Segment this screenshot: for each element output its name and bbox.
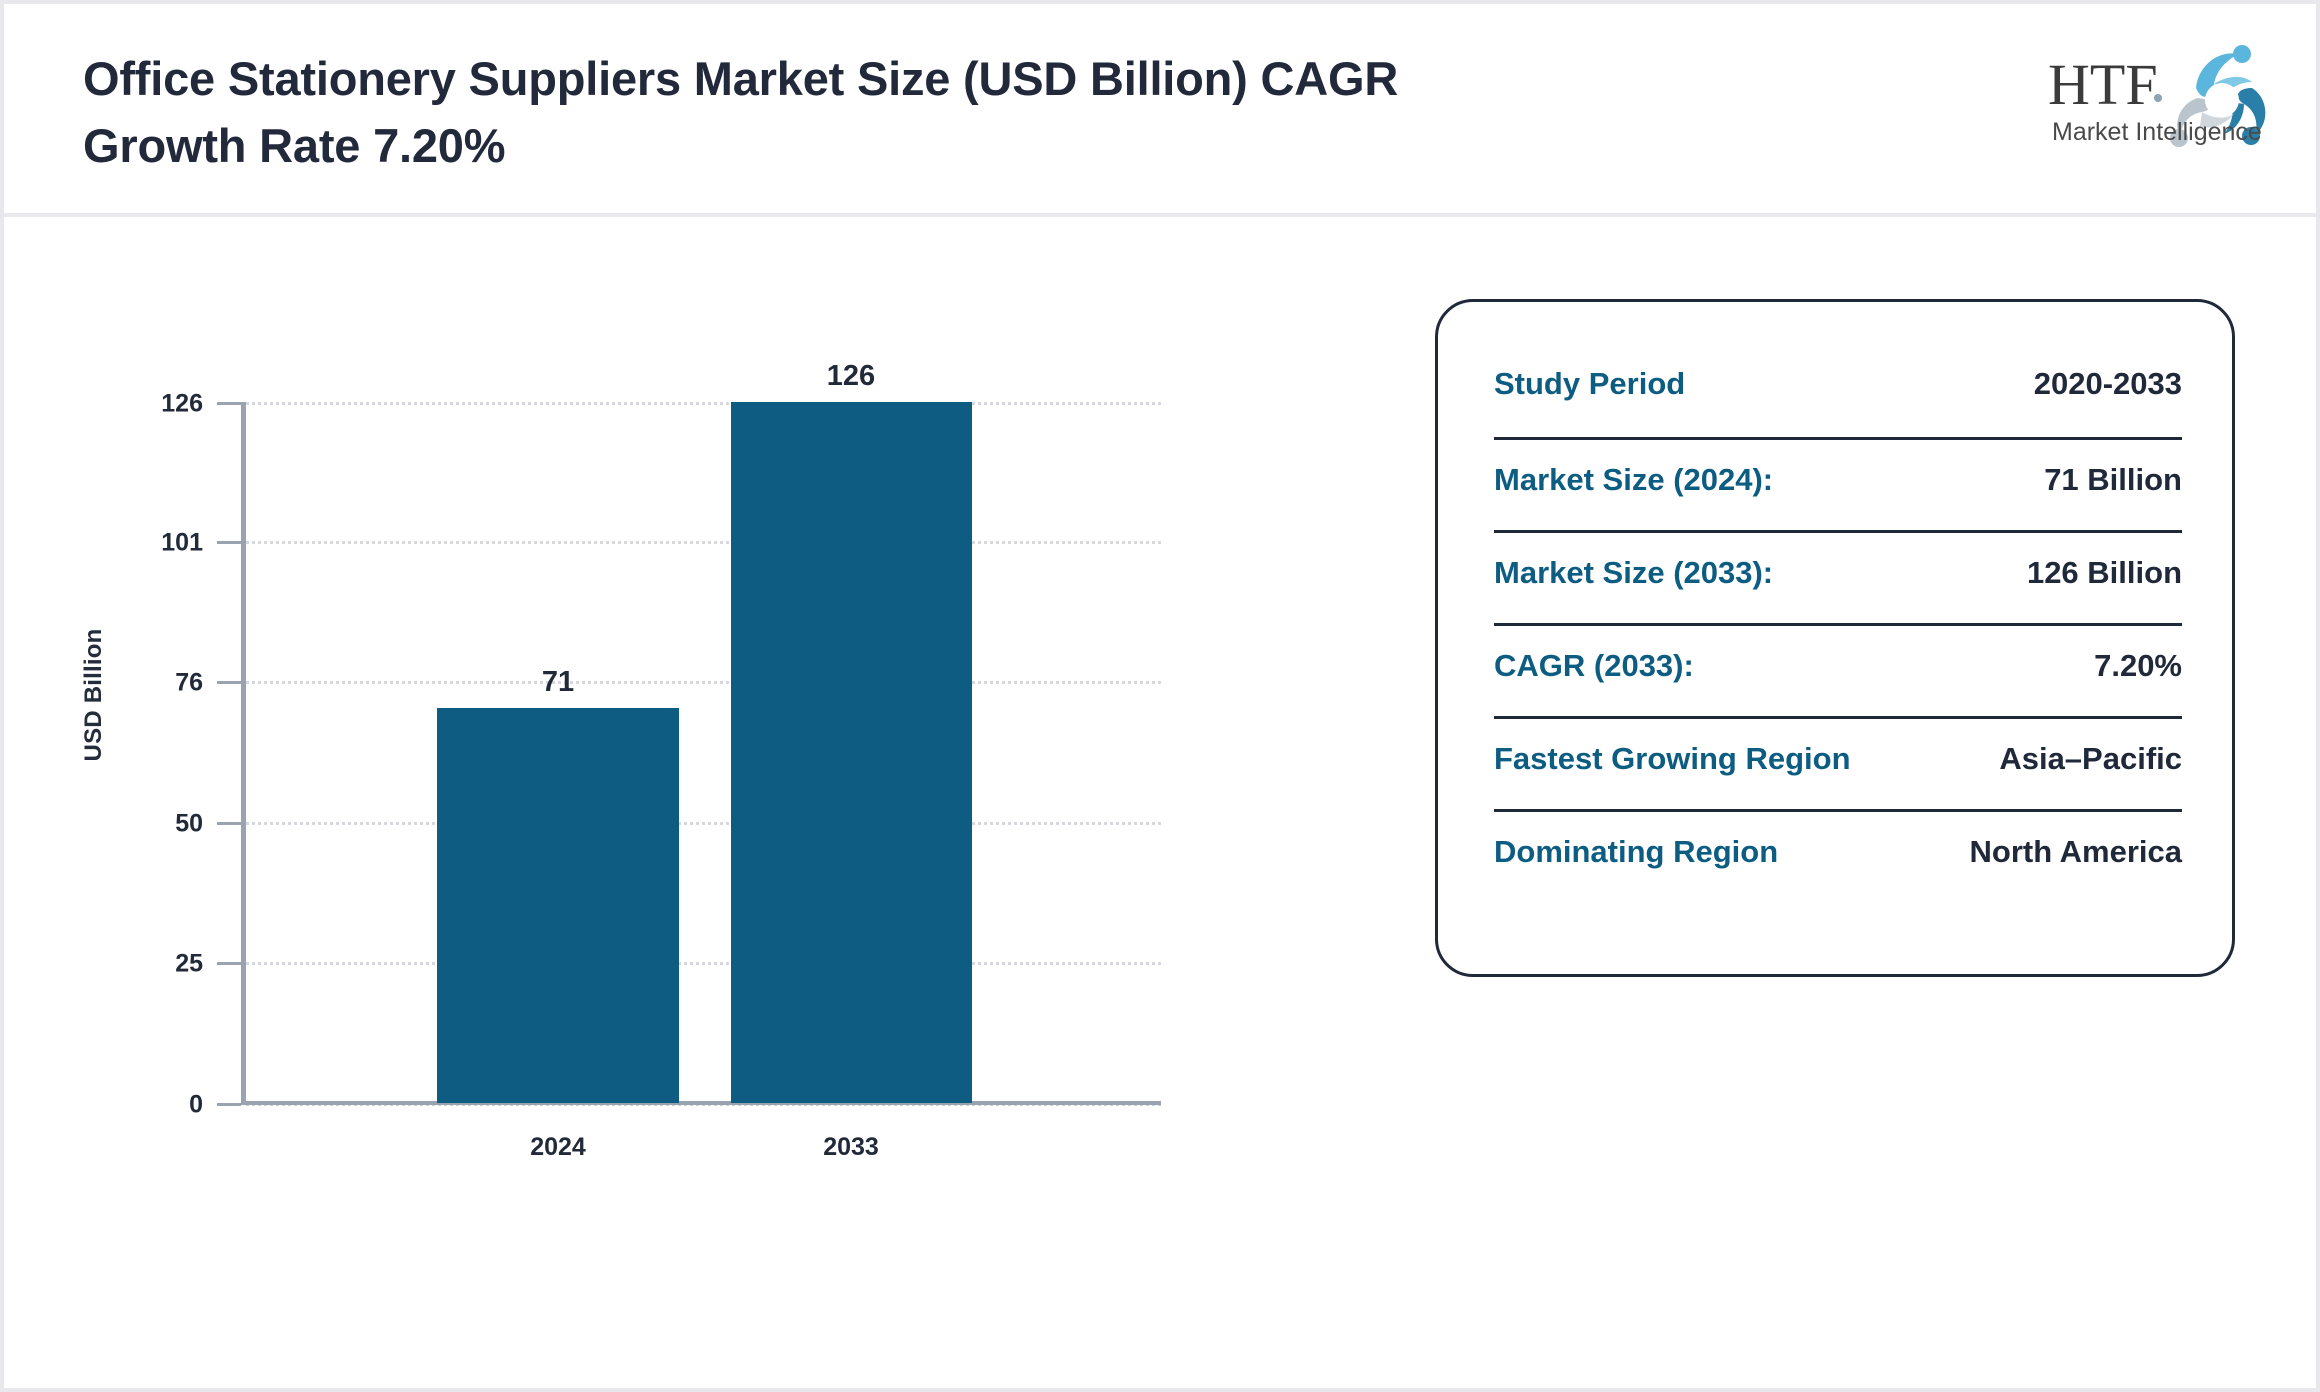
header: Office Stationery Suppliers Market Size … <box>4 4 2316 217</box>
market-summary-rows: Study Period 2020-2033 Market Size (2024… <box>1494 344 2182 902</box>
gridline-50 <box>246 822 1161 825</box>
gridline-126 <box>246 402 1161 405</box>
bar-chart: USD Billion 126 101 76 50 <box>4 217 1424 1392</box>
info-value-dominating-region: North America <box>1970 834 2182 870</box>
info-value-study-period: 2020-2033 <box>2034 366 2182 402</box>
info-value-market-size-2033: 126 Billion <box>2027 555 2182 591</box>
bar-value-label-2024: 71 <box>428 666 688 699</box>
info-row-study-period: Study Period 2020-2033 <box>1494 344 2182 437</box>
page-title: Office Stationery Suppliers Market Size … <box>83 46 1403 179</box>
info-row-market-size-2033: Market Size (2033): 126 Billion <box>1494 530 2182 623</box>
y-tick-2: 50 <box>217 822 241 825</box>
x-axis-line <box>241 1101 1161 1105</box>
info-label-fastest-growing-region: Fastest Growing Region <box>1494 741 1851 777</box>
info-row-cagr-2033: CAGR (2033): 7.20% <box>1494 623 2182 716</box>
y-axis-title: USD Billion <box>80 565 108 825</box>
y-tick-3: 76 <box>217 681 241 684</box>
bar-2033[interactable] <box>731 402 972 1103</box>
info-row-fastest-growing-region: Fastest Growing Region Asia–Pacific <box>1494 716 2182 809</box>
info-value-fastest-growing-region: Asia–Pacific <box>1999 741 2182 777</box>
info-label-market-size-2033: Market Size (2033): <box>1494 555 1773 591</box>
info-row-dominating-region: Dominating Region North America <box>1494 809 2182 902</box>
bar-2024[interactable] <box>437 708 679 1103</box>
market-summary-card: Study Period 2020-2033 Market Size (2024… <box>1435 299 2235 977</box>
bar-value-label-2033: 126 <box>721 360 981 393</box>
y-tick-label-0: 0 <box>189 1090 203 1119</box>
y-tick-label-3: 76 <box>175 668 203 697</box>
y-tick-label-4: 101 <box>161 528 203 557</box>
x-axis-label-2033: 2033 <box>721 1133 981 1162</box>
gridline-25 <box>246 962 1161 965</box>
gridline-101 <box>246 541 1161 544</box>
logo-dot-icon <box>2154 94 2162 102</box>
info-label-cagr-2033: CAGR (2033): <box>1494 648 1694 684</box>
info-row-market-size-2024: Market Size (2024): 71 Billion <box>1494 437 2182 530</box>
infographic-page: Office Stationery Suppliers Market Size … <box>0 0 2320 1392</box>
logo-tagline-text: Market Intelligence <box>2052 118 2262 146</box>
info-value-cagr-2033: 7.20% <box>2094 648 2182 684</box>
y-tick-4: 101 <box>217 541 241 544</box>
gridline-76 <box>246 681 1161 684</box>
y-tick-label-5: 126 <box>161 389 203 418</box>
y-tick-label-2: 50 <box>175 809 203 838</box>
y-tick-label-1: 25 <box>175 949 203 978</box>
plot-area: 126 101 76 50 25 0 71 126 2 <box>241 217 1161 1392</box>
info-label-dominating-region: Dominating Region <box>1494 834 1778 870</box>
info-label-study-period: Study Period <box>1494 366 1685 402</box>
htf-market-intelligence-logo: HTF <box>2046 40 2276 148</box>
y-tick-1: 25 <box>217 962 241 965</box>
x-axis-label-2024: 2024 <box>428 1133 688 1162</box>
y-tick-5: 126 <box>217 402 241 405</box>
info-value-market-size-2024: 71 Billion <box>2044 462 2182 498</box>
y-tick-0: 0 <box>217 1103 241 1106</box>
logo-wordmark-text: HTF <box>2048 52 2158 117</box>
y-axis-line <box>241 402 246 1104</box>
info-label-market-size-2024: Market Size (2024): <box>1494 462 1773 498</box>
